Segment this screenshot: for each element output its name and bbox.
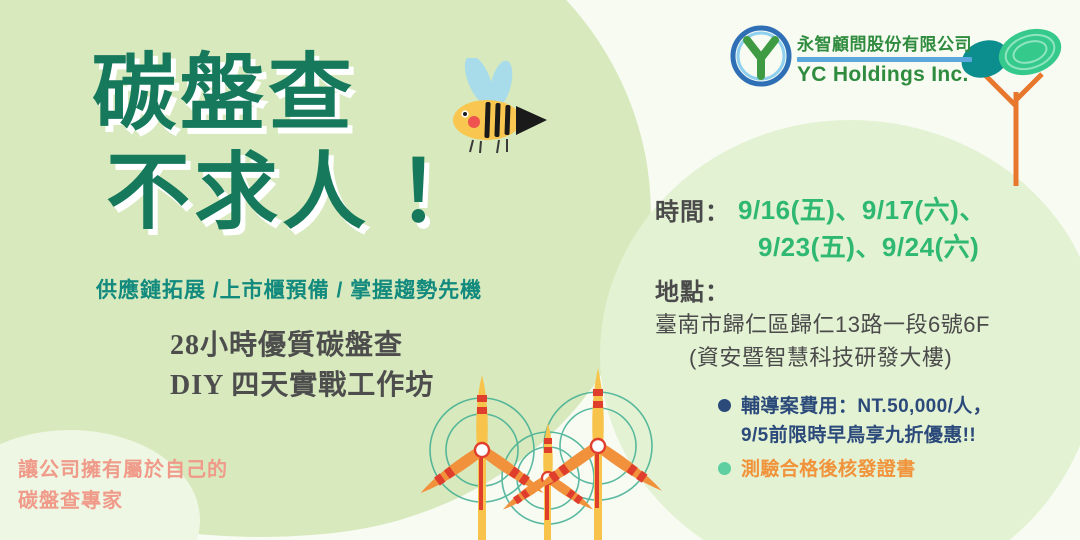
event-address-line-2: (資安暨智慧科技研發大樓)	[689, 342, 1065, 373]
poster-canvas: 碳盤查 不求人 ！ 供應鏈拓展 /上市櫃預備 / 掌握趨勢先機 28小時優質碳盤…	[0, 0, 1080, 540]
course-title-line-1: 28小時優質碳盤查	[170, 326, 434, 366]
list-item: 輔導案費用：NT.50,000/人， 9/5前限時早鳥享九折優惠!!	[718, 392, 1068, 451]
footer-note-line-1: 讓公司擁有屬於自己的	[18, 455, 228, 486]
tree-icon	[958, 14, 1078, 194]
logo-english-name: YC Holdings Inc.	[797, 63, 969, 86]
event-bullet-list: 輔導案費用：NT.50,000/人， 9/5前限時早鳥享九折優惠!! 測驗合格後…	[718, 392, 1068, 488]
course-title-line-2: DIY 四天實戰工作坊	[170, 366, 434, 406]
bullet-dot-navy-icon	[718, 399, 731, 412]
logo-y-mark-icon	[727, 22, 795, 95]
bullet-certificate-text: 測驗合格後核發證書	[741, 455, 916, 484]
footer-note-line-2: 碳盤查專家	[18, 486, 228, 517]
logo-chinese-name: 永智顧問股份有限公司	[797, 35, 972, 54]
bullet-fee-text: 輔導案費用：NT.50,000/人， 9/5前限時早鳥享九折優惠!!	[741, 392, 992, 451]
bullet-fee-line-2: 9/5前限時早鳥享九折優惠!!	[741, 421, 992, 450]
bullet-fee-line-1: 輔導案費用：NT.50,000/人，	[741, 392, 992, 421]
list-item: 測驗合格後核發證書	[718, 455, 1068, 484]
course-title: 28小時優質碳盤查 DIY 四天實戰工作坊	[170, 326, 434, 406]
event-time-row: 時間： 9/16(五)、9/17(六)、 9/23(五)、9/24(六)	[655, 192, 1065, 266]
event-address-line-1: 臺南市歸仁區歸仁13路一段6號6F	[655, 309, 1065, 340]
event-dates: 9/16(五)、9/17(六)、 9/23(五)、9/24(六)	[730, 192, 986, 266]
company-logo: 永智顧問股份有限公司 YC Holdings Inc.	[727, 22, 972, 95]
event-dates-line-1: 9/16(五)、9/17(六)、	[738, 192, 986, 229]
time-label: 時間：	[655, 192, 730, 227]
headline: 碳盤查 不求人 ！	[92, 44, 485, 242]
tagline: 供應鏈拓展 /上市櫃預備 / 掌握趨勢先機	[96, 274, 482, 304]
logo-text-block: 永智顧問股份有限公司 YC Holdings Inc.	[797, 30, 972, 87]
headline-line-1: 碳盤查	[92, 44, 485, 143]
headline-line-2: 不求人 ！	[106, 143, 485, 242]
wind-turbines-icon	[420, 358, 680, 540]
footer-note: 讓公司擁有屬於自己的 碳盤查專家	[18, 455, 228, 517]
event-dates-line-2: 9/23(五)、9/24(六)	[758, 229, 986, 266]
bee-icon	[443, 58, 553, 163]
logo-divider-bar	[797, 57, 972, 62]
event-info-panel: 時間： 9/16(五)、9/17(六)、 9/23(五)、9/24(六) 地點：…	[655, 192, 1065, 373]
place-label: 地點：	[655, 272, 1065, 307]
bullet-dot-mint-icon	[718, 462, 731, 475]
